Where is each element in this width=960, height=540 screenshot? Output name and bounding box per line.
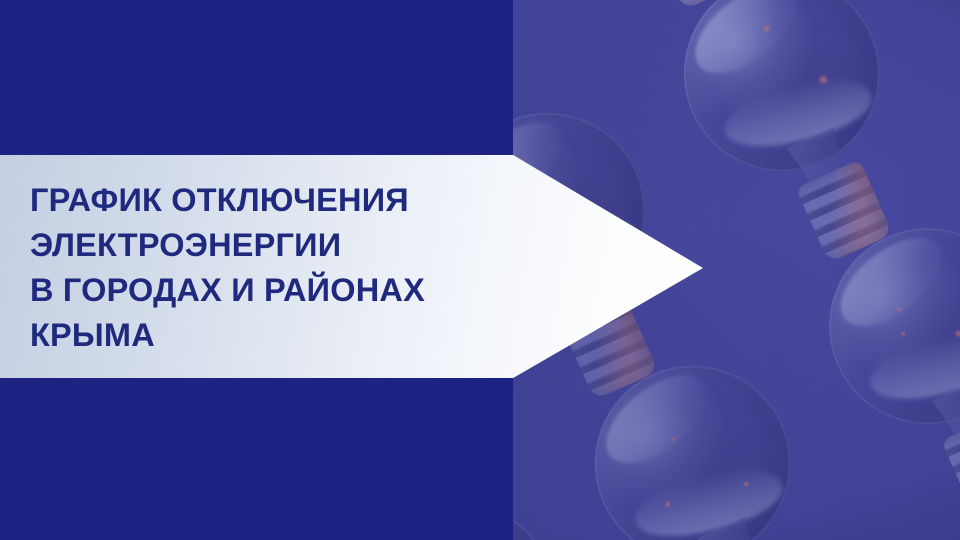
banner-canvas: ГРАФИК ОТКЛЮЧЕНИЯЭЛЕКТРОЭНЕРГИИВ ГОРОДАХ… xyxy=(0,0,960,540)
headline-line-2: ЭЛЕКТРОЭНЕРГИИ xyxy=(30,223,500,268)
headline-line-3: В ГОРОДАХ И РАЙОНАХ xyxy=(30,268,500,313)
headline-line-4: КРЫМА xyxy=(30,313,500,358)
headline-line-1: ГРАФИК ОТКЛЮЧЕНИЯ xyxy=(30,178,500,223)
page-title: ГРАФИК ОТКЛЮЧЕНИЯЭЛЕКТРОЭНЕРГИИВ ГОРОДАХ… xyxy=(30,178,500,358)
